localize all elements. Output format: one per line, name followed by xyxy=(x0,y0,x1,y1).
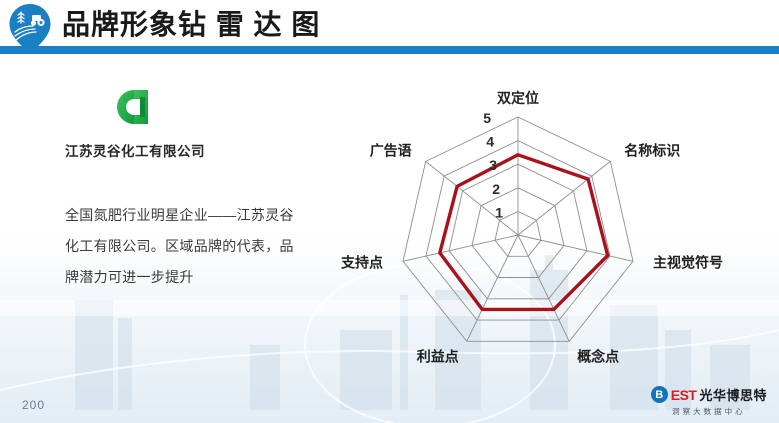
slide-root: 品牌形象钻 雷 达 图 江苏灵谷化工有限公司 全国氮肥行业明星企业——江苏灵谷化… xyxy=(0,0,779,423)
radar-axis-label-5: 支持点 xyxy=(340,254,383,270)
radar-axis-label-4: 利益点 xyxy=(417,348,459,364)
radar-axis-label-1: 名称标识 xyxy=(624,142,680,158)
company-name: 江苏灵谷化工有限公司 xyxy=(65,140,205,160)
brand-row: B EST 光华博思特 xyxy=(651,385,767,404)
radar-svg: 12345双定位名称标识主视觉符号概念点利益点支持点广告语 xyxy=(330,70,779,370)
brand-logo: B EST 光华博思特 洞察大数据中心 xyxy=(651,385,767,417)
radar-axis-label-6: 广告语 xyxy=(370,142,412,158)
slide-header: 品牌形象钻 雷 达 图 xyxy=(0,0,779,56)
brand-subtitle: 洞察大数据中心 xyxy=(672,406,746,417)
brand-cn-text: 光华博思特 xyxy=(699,385,767,404)
radar-tick-label-1: 1 xyxy=(495,204,503,220)
radar-tick-label-2: 2 xyxy=(492,181,500,197)
radar-tick-label-3: 3 xyxy=(489,157,497,173)
brand-est-text: EST xyxy=(671,387,697,403)
radar-tick-label-5: 5 xyxy=(483,110,491,126)
radar-tick-label-4: 4 xyxy=(486,134,494,150)
brand-image-radar-chart: 12345双定位名称标识主视觉符号概念点利益点支持点广告语 xyxy=(330,70,779,370)
page-number: 200 xyxy=(22,398,45,412)
brand-mark-icon: B xyxy=(651,386,668,403)
header-accent-bar xyxy=(57,46,779,54)
company-description: 全国氮肥行业明星企业——江苏灵谷化工有限公司。区域品牌的代表，品牌潜力可进一步提… xyxy=(65,200,300,293)
radar-axis-line-3 xyxy=(518,235,569,341)
linggu-green-logo-icon xyxy=(115,88,159,128)
radar-axis-label-0: 双定位 xyxy=(497,90,539,106)
radar-axis-label-3: 概念点 xyxy=(577,348,619,364)
radar-axis-line-4 xyxy=(467,235,518,341)
page-title: 品牌形象钻 雷 达 图 xyxy=(62,6,320,44)
radar-axis-label-2: 主视觉符号 xyxy=(653,254,723,270)
header-accent-bar-left xyxy=(0,46,57,54)
